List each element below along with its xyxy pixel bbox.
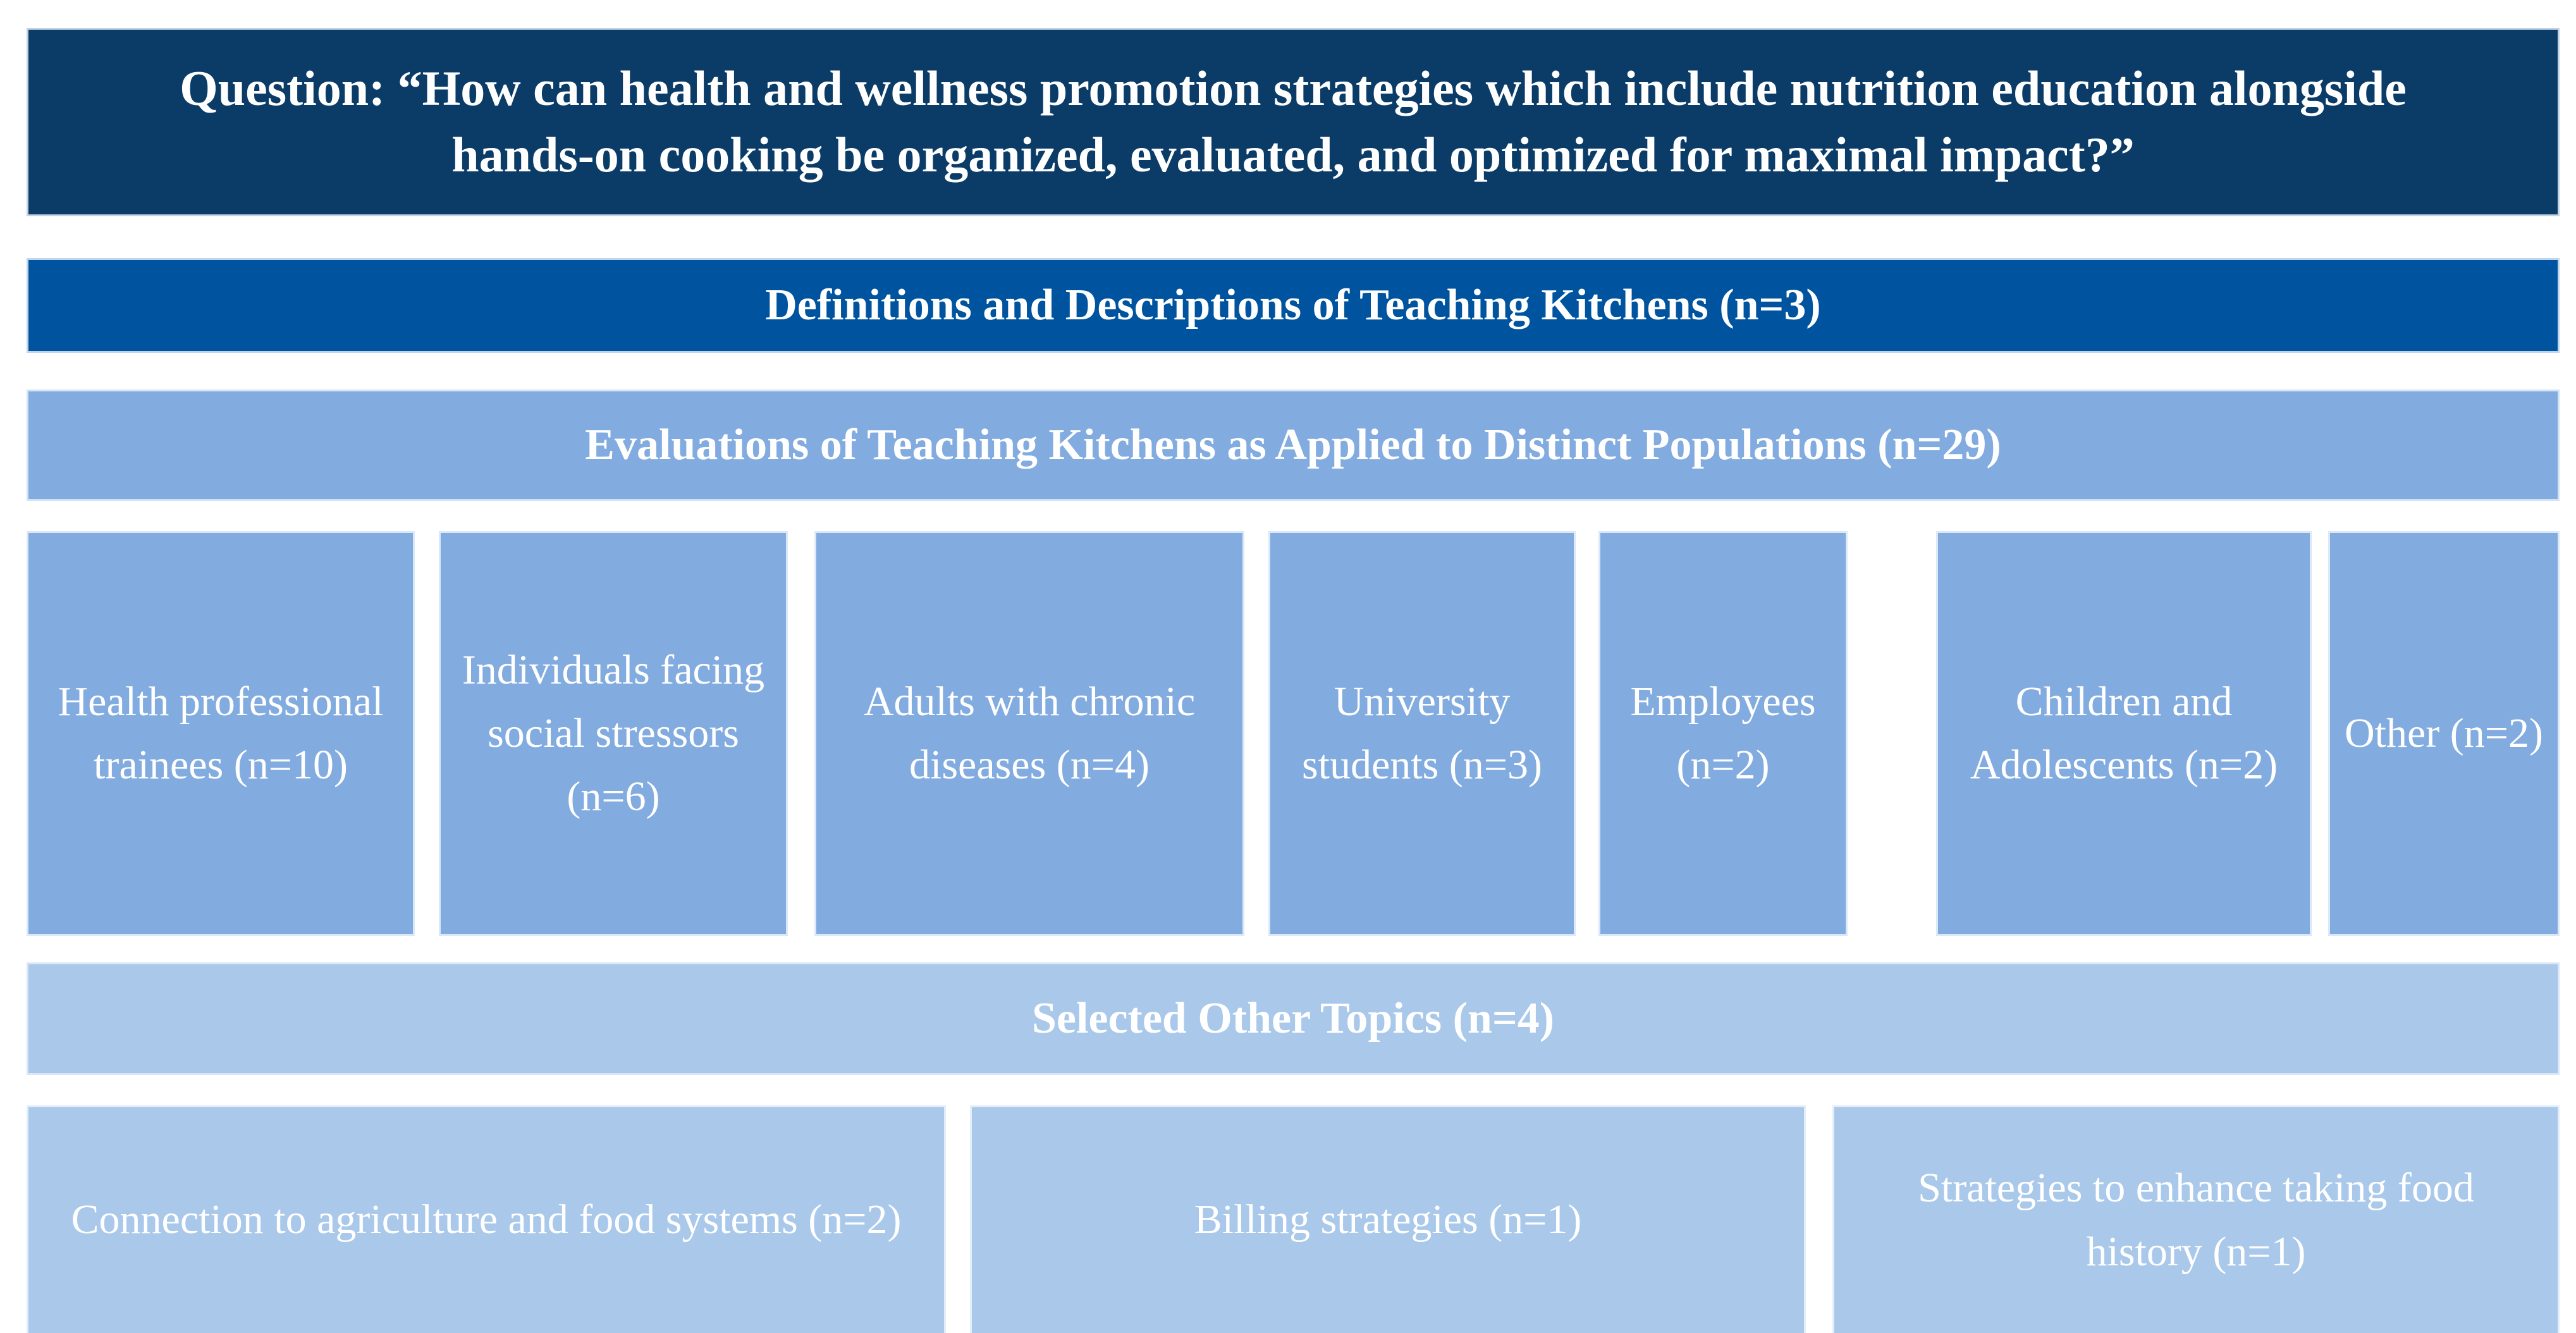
- population-box-individuals-facing-social-stressors: Individuals facing social stressors (n=6…: [439, 531, 788, 936]
- definitions-header-bar: Definitions and Descriptions of Teaching…: [27, 258, 2560, 353]
- population-box-other: Other (n=2): [2328, 531, 2560, 936]
- population-box-label: Adults with chronic diseases (n=4): [830, 670, 1229, 797]
- topic-box-label: Strategies to enhance taking food histor…: [1860, 1157, 2532, 1284]
- teaching-kitchens-flow-diagram: Question: “How can health and wellness p…: [0, 0, 2576, 1332]
- evaluations-section-bar: Evaluations of Teaching Kitchens as Appl…: [27, 390, 2560, 501]
- population-box-university-students: University students (n=3): [1268, 531, 1576, 936]
- topic-box-label: Connection to agriculture and food syste…: [71, 1188, 902, 1251]
- population-box-adults-with-chronic-diseases: Adults with chronic diseases (n=4): [814, 531, 1244, 936]
- population-box-label: Individuals facing social stressors (n=6…: [455, 639, 772, 829]
- topic-box-label: Billing strategies (n=1): [1194, 1188, 1582, 1251]
- topic-box-billing-strategies: Billing strategies (n=1): [970, 1105, 1806, 1333]
- population-box-label: Employees (n=2): [1614, 670, 1832, 797]
- population-box-label: University students (n=3): [1284, 670, 1560, 797]
- population-box-label: Children and Adolescents (n=2): [1952, 670, 2296, 797]
- selected-other-topics-bar: Selected Other Topics (n=4): [27, 962, 2560, 1075]
- selected-other-topics-label: Selected Other Topics (n=4): [1032, 993, 1554, 1044]
- population-box-label: Health professional trainees (n=10): [42, 670, 399, 797]
- question-text: Question: “How can health and wellness p…: [104, 56, 2482, 188]
- question-banner: Question: “How can health and wellness p…: [27, 28, 2560, 216]
- topic-box-taking-food-history: Strategies to enhance taking food histor…: [1832, 1105, 2560, 1333]
- population-box-children-and-adolescents: Children and Adolescents (n=2): [1936, 531, 2312, 936]
- evaluations-section-label: Evaluations of Teaching Kitchens as Appl…: [585, 420, 2001, 470]
- topic-box-agriculture-and-food-systems: Connection to agriculture and food syste…: [27, 1105, 946, 1333]
- population-box-label: Other (n=2): [2345, 702, 2543, 765]
- population-box-health-professional-trainees: Health professional trainees (n=10): [27, 531, 415, 936]
- definitions-header-label: Definitions and Descriptions of Teaching…: [765, 280, 1821, 331]
- population-box-employees: Employees (n=2): [1598, 531, 1848, 936]
